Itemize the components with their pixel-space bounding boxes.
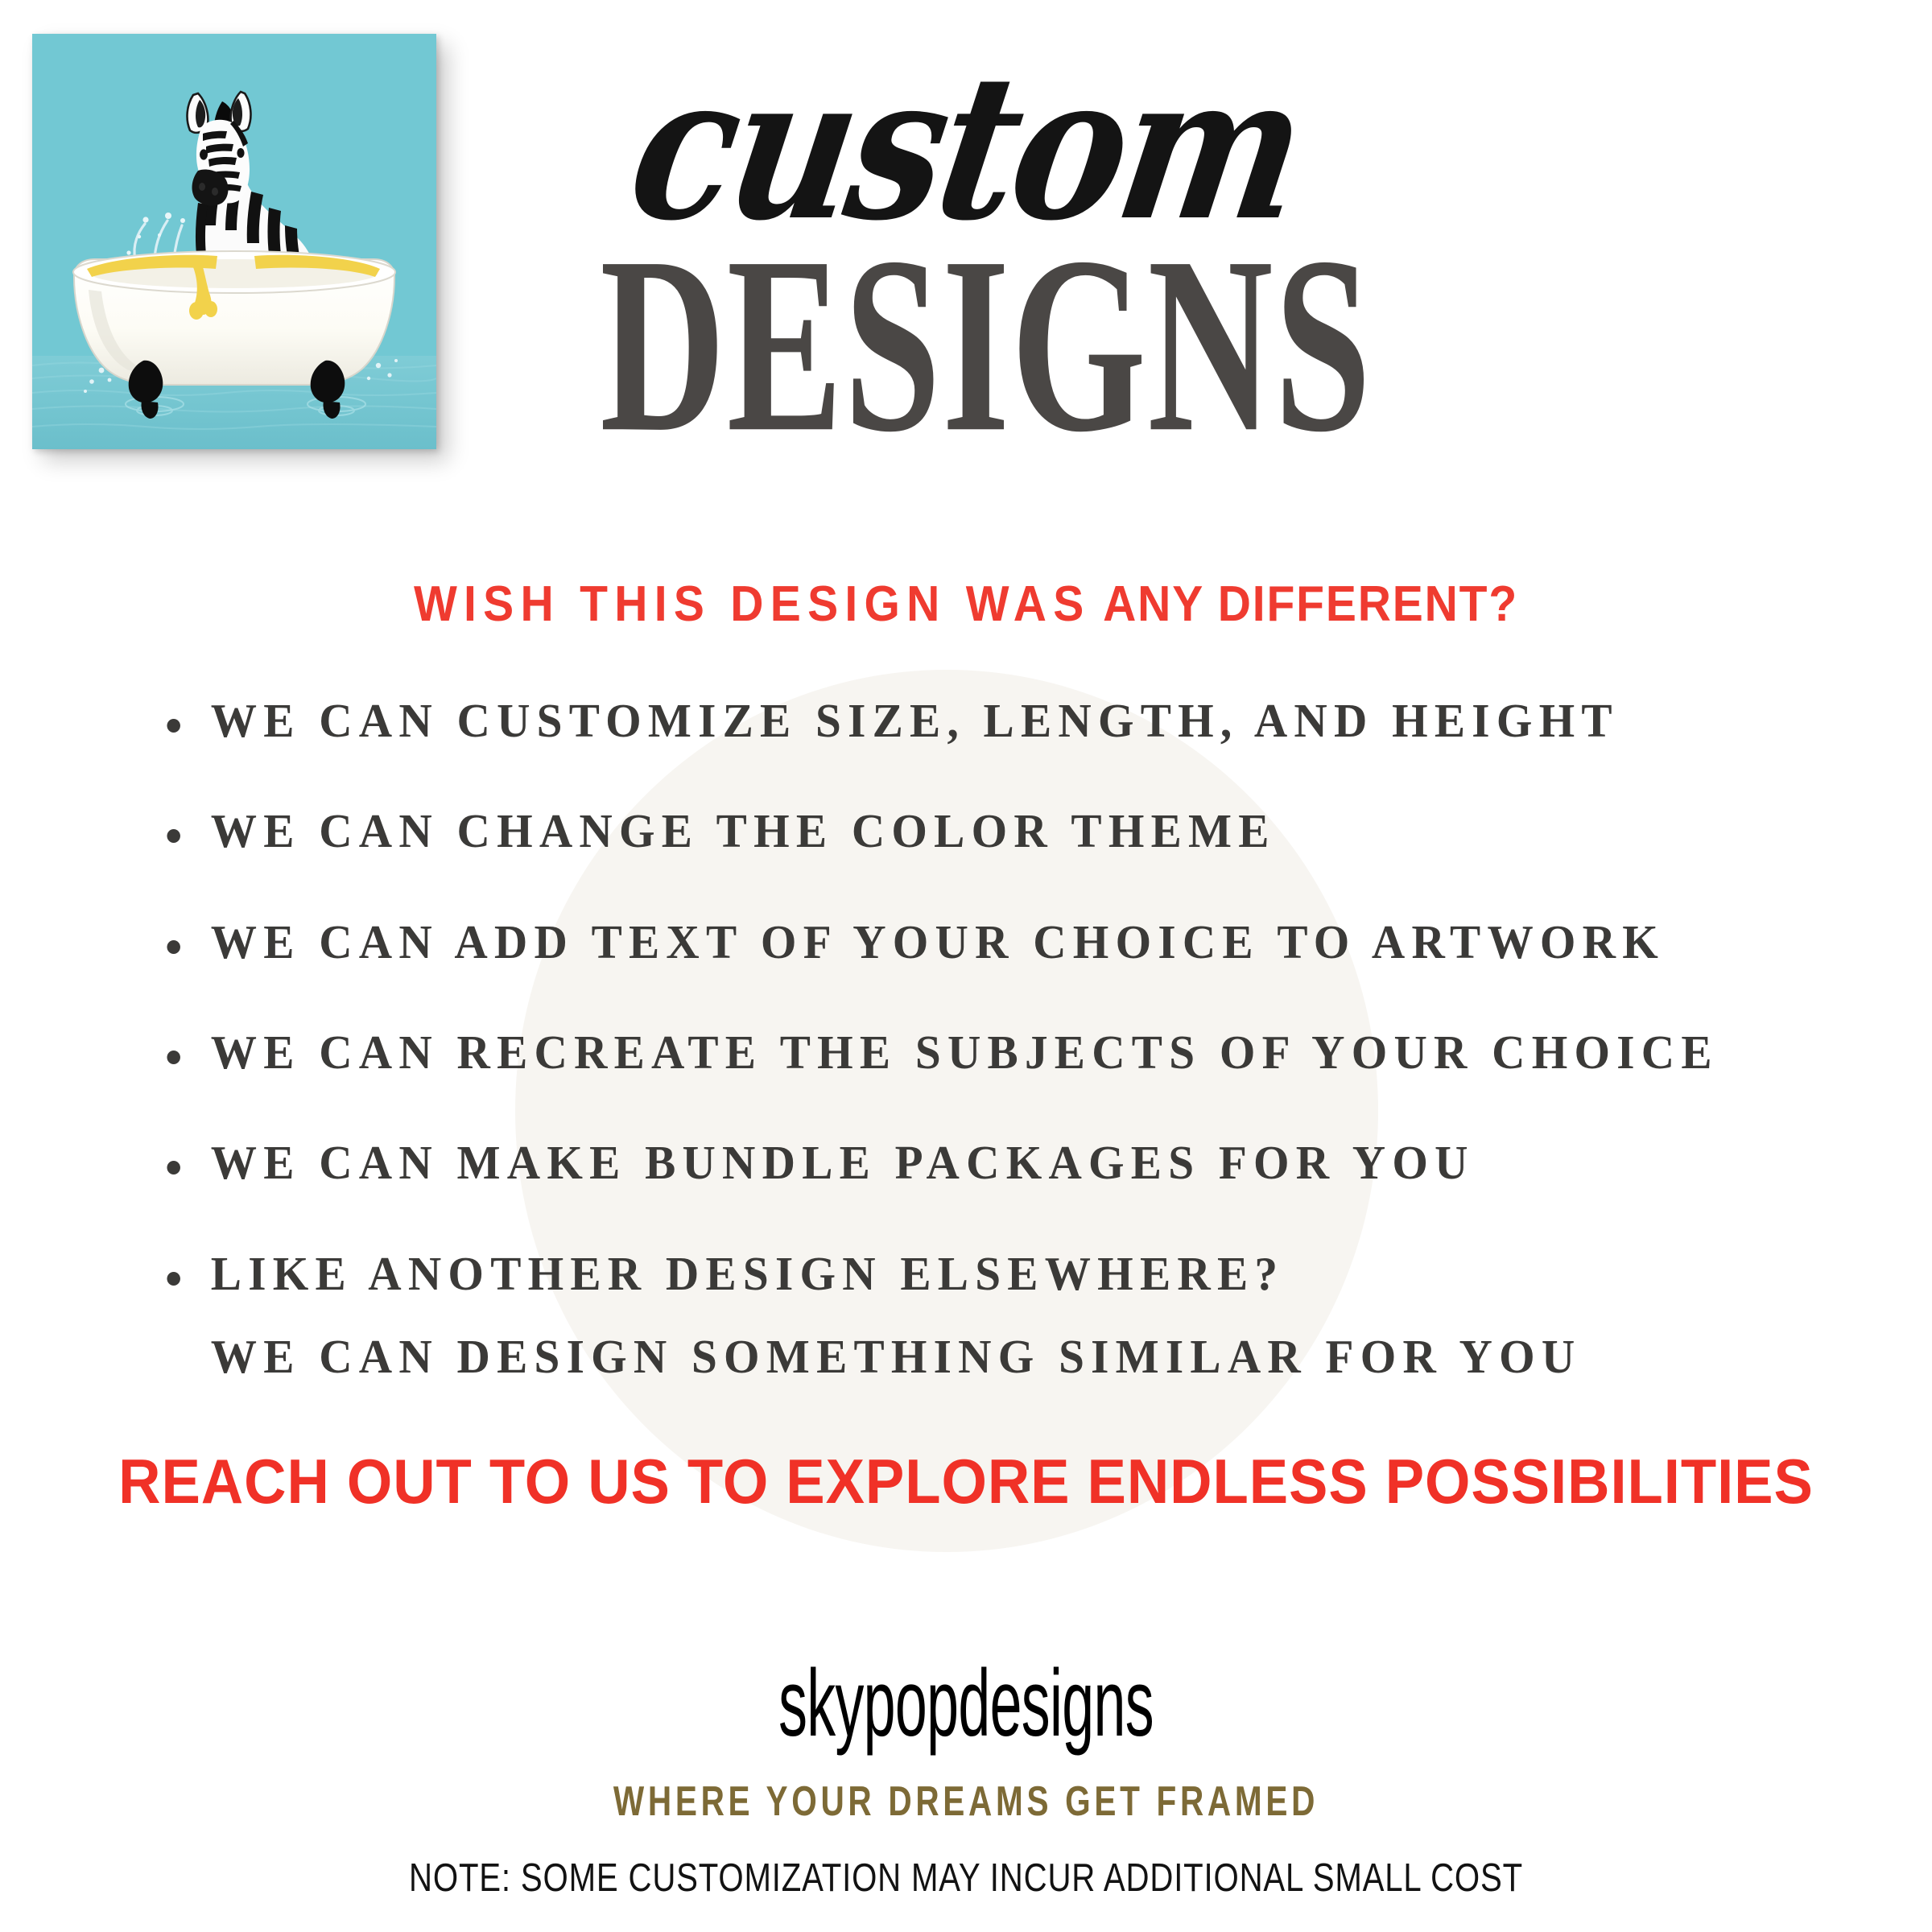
list-item-label: WE CAN RECREATE THE SUBJECTS OF YOUR CHO… [211,1026,1719,1079]
call-to-action[interactable]: REACH OUT TO US TO EXPLORE ENDLESS POSSI… [68,1445,1864,1518]
subtitle-part-a: WISH THIS DESIGN WAS [414,576,1091,632]
list-item-continuation: WE CAN DESIGN SOMETHING SIMILAR FOR YOU [153,1332,1808,1381]
list-item: WE CAN MAKE BUNDLE PACKAGES FOR YOU [153,1138,1808,1187]
subtitle-part-b: ANY DIFFERENT? [1103,576,1518,632]
footer-note: NOTE: SOME CUSTOMIZATION MAY INCUR ADDIT… [174,1856,1758,1901]
feature-list: WE CAN CUSTOMIZE SIZE, LENGTH, AND HEIGH… [153,696,1860,1382]
brand-tagline: WHERE YOUR DREAMS GET FRAMED [213,1777,1719,1826]
bullet-dot-icon [167,1272,180,1286]
headline-block: custom DESIGNS [451,48,1900,612]
list-item-label: WE CAN CHANGE THE COLOR THEME [211,804,1276,857]
list-item-label: LIKE ANOTHER DESIGN ELSEWHERE? [211,1247,1284,1300]
bullet-dot-icon [167,829,180,843]
list-item: WE CAN ADD TEXT OF YOUR CHOICE TO ARTWOR… [153,918,1808,967]
artwork-tile[interactable] [32,34,436,449]
list-item: WE CAN CHANGE THE COLOR THEME [153,807,1808,856]
list-item: WE CAN CUSTOMIZE SIZE, LENGTH, AND HEIGH… [153,696,1808,745]
bullet-dot-icon [167,940,180,954]
brand-logo-text: skypopdesigns [348,1649,1584,1757]
page-title-main: DESIGNS [551,229,1421,461]
zebra-in-bathtub-icon [32,34,436,449]
promo-poster: custom DESIGNS WISH THIS DESIGN WAS ANY … [0,0,1932,1932]
list-item: WE CAN RECREATE THE SUBJECTS OF YOUR CHO… [153,1028,1808,1077]
bullet-dot-icon [167,1161,180,1174]
list-item-label: WE CAN MAKE BUNDLE PACKAGES FOR YOU [211,1136,1475,1189]
bullet-dot-icon [167,1051,180,1064]
bullet-dot-icon [167,719,180,733]
subtitle: WISH THIS DESIGN WAS ANY DIFFERENT? [77,576,1855,633]
list-item-label: WE CAN ADD TEXT OF YOUR CHOICE TO ARTWOR… [211,915,1665,968]
list-item-label: WE CAN CUSTOMIZE SIZE, LENGTH, AND HEIGH… [211,694,1619,747]
list-item: LIKE ANOTHER DESIGN ELSEWHERE? [153,1249,1808,1298]
